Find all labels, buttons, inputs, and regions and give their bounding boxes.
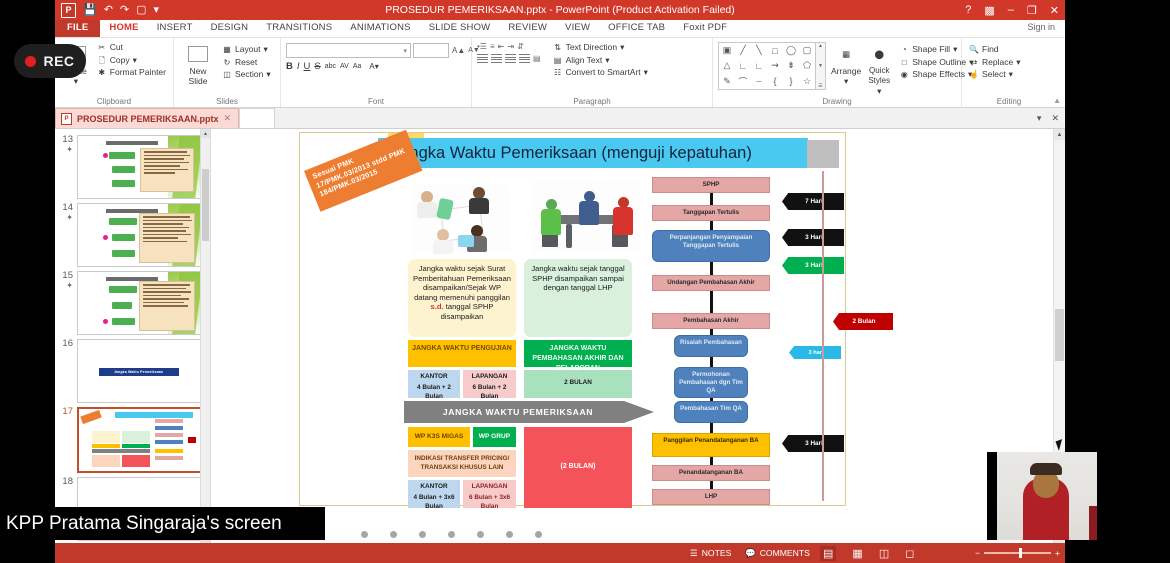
- status-bar: ☰ NOTES 💬 COMMENTS ▤ ▦ ◫ ◻ − +: [55, 543, 1065, 563]
- cell-lapangan-row1: LAPANGAN 6 Bulan + 2 Bulan: [463, 370, 516, 398]
- section-button[interactable]: ◫ Section▾: [220, 69, 273, 80]
- section-icon: ◫: [222, 70, 232, 80]
- format-painter-button[interactable]: ✱ Format Painter: [95, 67, 168, 78]
- convert-to-smartart-button[interactable]: ☷ Convert to SmartArt▾: [551, 67, 650, 78]
- slide-thumbnail-pane[interactable]: 13✦ 14✦: [55, 129, 211, 543]
- comments-button[interactable]: 💬 COMMENTS: [745, 548, 810, 559]
- align-text-button[interactable]: ▤ Align Text▾: [551, 55, 650, 66]
- align-text-icon: ▤: [553, 55, 563, 65]
- gray-placeholder-block: [807, 140, 839, 168]
- text-direction-button[interactable]: ⇅ Text Direction▾: [551, 42, 650, 53]
- regulation-text: Sesuai PMK 17/PMK.03/2013 stdd PMK 184/P…: [304, 130, 418, 201]
- window-title: PROSEDUR PEMERIKSAAN.pptx - PowerPoint (…: [55, 0, 1065, 20]
- document-tab-close-icon[interactable]: ✕: [224, 113, 232, 124]
- reset-button[interactable]: ↻ Reset: [220, 57, 273, 68]
- triangle-shape-icon[interactable]: △: [719, 58, 735, 73]
- thumbnail-preview-selected[interactable]: [77, 407, 208, 473]
- tab-foxit-pdf[interactable]: Foxit PDF: [674, 20, 736, 37]
- binoculars-icon: 🔍: [969, 45, 979, 55]
- thumbnail-scrollbar[interactable]: ▲ ▼: [200, 129, 210, 543]
- right-brace-icon[interactable]: }: [783, 74, 799, 89]
- document-tab-prosedur-pemeriksaan[interactable]: P PROSEDUR PEMERIKSAAN.pptx ✕: [55, 108, 239, 128]
- shapes-gallery-scroll[interactable]: ▲ ▼ ☰: [816, 42, 826, 90]
- character-spacing-button[interactable]: AV: [340, 63, 349, 70]
- bullets-icon[interactable]: •☰: [477, 42, 487, 51]
- replace-button[interactable]: ⇄ Replace▾: [967, 57, 1022, 68]
- tab-review[interactable]: REVIEW: [499, 20, 556, 37]
- view-switcher[interactable]: ▤ ▦ ◫ ◻: [820, 546, 914, 561]
- thumbnail-preview[interactable]: Jangka Waktu Pemeriksaan: [77, 339, 208, 403]
- thumbnail-preview[interactable]: [77, 135, 208, 199]
- ribbon: Paste ▾ ✂ Cut 🗋 Copy ▾: [55, 38, 1065, 108]
- flow-node-permohonan-tim-qa: Permohonan Pembahasan dgn Tim QA: [674, 367, 748, 398]
- ribbon-group-drawing: ▣ ╱ ╲ □ ◯ ▢ △ ∟ ∟ ⇝ ⇟ ⬠ ✎: [713, 38, 962, 107]
- tab-transitions[interactable]: TRANSITIONS: [257, 20, 341, 37]
- animation-star-icon: ✦: [59, 281, 73, 291]
- tab-design[interactable]: DESIGN: [202, 20, 258, 37]
- oval-shape-icon[interactable]: ◯: [783, 43, 799, 58]
- pentagon-shape-icon[interactable]: ⬠: [799, 58, 815, 73]
- select-button[interactable]: ☝ Select▾: [967, 69, 1022, 80]
- thumbnail-preview[interactable]: [77, 203, 208, 267]
- webcam-thumbnail[interactable]: [987, 452, 1105, 540]
- thumbnail-scroll-up-icon[interactable]: ▲: [201, 129, 210, 138]
- thumbnail-scroll-thumb[interactable]: [202, 169, 209, 241]
- badge-3-hari-1: 3 Hari: [782, 229, 844, 246]
- canvas-scroll-up-icon[interactable]: ▲: [1054, 129, 1065, 140]
- elbow-connector-icon[interactable]: ∟: [735, 58, 751, 73]
- arrange-button[interactable]: ▦ Arrange ▾: [831, 42, 861, 86]
- interview-photo: [532, 181, 640, 253]
- arrange-dropdown-icon[interactable]: ▾: [844, 76, 848, 86]
- slide-title: Jangka Waktu Pemeriksaan (menguji kepatu…: [378, 138, 808, 168]
- bold-button[interactable]: B: [286, 61, 293, 72]
- right-arrow-shape-icon[interactable]: ⇝: [767, 58, 783, 73]
- slide-17[interactable]: Jangka Waktu Pemeriksaan (menguji kepatu…: [299, 132, 846, 506]
- arc-shape-icon[interactable]: ⌣: [751, 74, 767, 89]
- tab-office-tab[interactable]: OFFICE TAB: [599, 20, 674, 37]
- font-color-button[interactable]: A▾: [369, 62, 378, 71]
- layout-button[interactable]: ▦ Layout▾: [220, 44, 273, 55]
- regulation-ribbon-tag: Sesuai PMK 17/PMK.03/2013 stdd PMK 184/P…: [304, 130, 422, 212]
- scissors-icon: ✂: [97, 43, 107, 53]
- slide-thumbnail-14[interactable]: 14✦: [55, 199, 210, 267]
- reset-icon: ↻: [222, 57, 232, 67]
- recording-indicator: REC: [14, 44, 86, 78]
- text-direction-icon: ⇅: [553, 43, 563, 53]
- group-label-editing: Editing: [967, 97, 1051, 107]
- cell-lapangan-row2: LAPANGAN 6 Bulan + 3x6 Bulan: [463, 480, 516, 508]
- shapes-scroll-down-icon[interactable]: ▼: [818, 63, 823, 69]
- left-description-box: Jangka waktu sejak Surat Pemberitahuan P…: [408, 259, 516, 337]
- arrange-icon: ▦: [833, 42, 859, 66]
- shape-fill-icon: ◔: [899, 45, 909, 55]
- line-shape-icon[interactable]: ╱: [735, 43, 751, 58]
- document-tab-strip[interactable]: P PROSEDUR PEMERIKSAAN.pptx ✕ ▾ ✕: [55, 108, 1065, 129]
- change-case-button[interactable]: Aa: [353, 63, 362, 70]
- procedure-flowchart: SPHP Tanggapan Tertulis Perpanjangan Pen…: [652, 175, 772, 507]
- curve-shape-icon[interactable]: ⌒: [735, 74, 751, 89]
- layout-icon: ▦: [222, 45, 232, 55]
- tab-close-icon[interactable]: ✕: [1051, 113, 1059, 124]
- shape-outline-icon: □: [899, 57, 909, 67]
- header-jangka-waktu-pembahasan: JANGKA WAKTU PEMBAHASAN AKHIR DAN PELAPO…: [524, 340, 632, 367]
- ribbon-display-options-icon[interactable]: ▩: [984, 4, 994, 17]
- quick-styles-icon: ⬤: [866, 42, 892, 66]
- tab-dropdown-icon[interactable]: ▾: [1037, 113, 1042, 124]
- align-left-icon[interactable]: [477, 54, 488, 63]
- tab-animations[interactable]: ANIMATIONS: [341, 20, 419, 37]
- select-icon: ☝: [969, 70, 979, 80]
- zoom-knob[interactable]: [1019, 548, 1022, 558]
- replace-icon: ⇄: [969, 57, 979, 67]
- group-label-slides: Slides: [179, 97, 275, 107]
- badge-7-hari: 7 Hari: [782, 193, 844, 210]
- notes-icon: ☰: [690, 548, 698, 559]
- tab-home[interactable]: HOME: [100, 20, 147, 37]
- cell-kantor-row2: KANTOR 4 Bulan + 3x6 Bulan: [408, 480, 460, 508]
- increase-font-size-icon[interactable]: A▲: [452, 46, 465, 55]
- numbering-icon[interactable]: ≡: [490, 42, 495, 51]
- down-arrow-shape-icon[interactable]: ⇟: [783, 58, 799, 73]
- tab-insert[interactable]: INSERT: [148, 20, 202, 37]
- close-icon[interactable]: ✕: [1050, 4, 1059, 17]
- notes-button[interactable]: ☰ NOTES: [690, 548, 731, 559]
- left-description-text: Jangka waktu sejak Surat Pemberitahuan P…: [408, 259, 516, 327]
- right-description-box: Jangka waktu sejak tanggal SPHP disampai…: [524, 259, 632, 337]
- columns-icon[interactable]: ▤: [533, 54, 541, 63]
- slide-thumbnail-16[interactable]: 16 Jangka Waktu Pemeriksaan: [55, 335, 210, 403]
- tab-file[interactable]: FILE: [55, 20, 100, 37]
- record-dot-icon: [25, 56, 36, 67]
- comment-bubble-icon: 💬: [745, 548, 756, 559]
- flow-node-lhp: LHP: [652, 489, 770, 505]
- title-bar: P 💾 ↶ ↷ ▢ ▾ PROSEDUR PEMERIKSAAN.pptx - …: [55, 0, 1065, 20]
- smartart-icon: ☷: [553, 68, 563, 78]
- webcam-letterbox-left: [987, 452, 997, 540]
- restore-icon[interactable]: ❐: [1027, 4, 1037, 17]
- justify-icon[interactable]: [519, 54, 530, 63]
- flow-node-perpanjangan: Perpanjangan Penyampaian Tanggapan Tertu…: [652, 230, 770, 262]
- underline-button[interactable]: U: [304, 61, 311, 72]
- slide-thumbnail-13[interactable]: 13✦: [55, 131, 210, 199]
- elbow-arrow-icon[interactable]: ∟: [751, 58, 767, 73]
- line-spacing-icon[interactable]: ⇵: [517, 42, 524, 51]
- flow-node-undangan-pembahasan-akhir: Undangan Pembahasan Akhir: [652, 275, 770, 291]
- thumbnail-title-bar: Jangka Waktu Pemeriksaan: [99, 368, 179, 376]
- screen-share-label-bar: KPP Pratama Singaraja's screen: [0, 507, 325, 540]
- badge-3-hari-2: 3 Hari: [782, 435, 844, 452]
- window-controls[interactable]: ? ▩ – ❐ ✕: [965, 0, 1059, 20]
- copy-dropdown-icon[interactable]: ▾: [133, 55, 137, 66]
- strikethrough-button[interactable]: abc: [325, 63, 336, 70]
- quick-styles-button[interactable]: ⬤ Quick Styles ▾: [866, 42, 892, 96]
- sign-in-link[interactable]: Sign in: [1027, 20, 1065, 37]
- italic-button[interactable]: I: [297, 61, 300, 72]
- increase-indent-icon[interactable]: ⇥: [507, 42, 514, 51]
- flow-node-risalah-pembahasan: Risalah Pembahasan: [674, 335, 748, 357]
- badge-3-hari-cyan: 3 hari: [789, 346, 841, 359]
- zoom-slider[interactable]: − +: [975, 548, 1060, 558]
- shapes-gallery[interactable]: ▣ ╱ ╲ □ ◯ ▢ △ ∟ ∟ ⇝ ⇟ ⬠ ✎: [718, 42, 816, 90]
- rounded-rect-shape-icon[interactable]: ▢: [799, 43, 815, 58]
- flow-node-tanggapan-tertulis: Tanggapan Tertulis: [652, 205, 770, 221]
- zoom-in-icon[interactable]: +: [1055, 548, 1060, 558]
- flow-node-sphp: SPHP: [652, 177, 770, 193]
- slide-sorter-icon[interactable]: ▦: [852, 547, 862, 560]
- webcam-person-headband: [1030, 463, 1062, 475]
- slide-thumbnail-17[interactable]: 17: [55, 403, 210, 473]
- shapes-more-icon[interactable]: ☰: [818, 83, 822, 89]
- new-slide-icon: [185, 42, 211, 66]
- minimize-icon[interactable]: –: [1008, 4, 1014, 16]
- arrow-shape-icon[interactable]: ╲: [751, 43, 767, 58]
- tag-wp-k3s-migas: WP K3S MIGAS: [408, 427, 470, 447]
- align-center-icon[interactable]: [491, 54, 502, 63]
- help-icon[interactable]: ?: [965, 4, 971, 16]
- align-right-icon[interactable]: [505, 54, 516, 63]
- left-brace-icon[interactable]: {: [767, 74, 783, 89]
- flow-node-panggilan-ba: Panggilan Penandatanganan BA: [652, 433, 770, 457]
- document-tab-label: PROSEDUR PEMERIKSAAN.pptx: [77, 114, 219, 124]
- group-label-font: Font: [286, 97, 466, 107]
- rectangle-shape-icon[interactable]: □: [767, 43, 783, 58]
- font-name-input[interactable]: ▾: [286, 43, 411, 58]
- screen-share-label: KPP Pratama Singaraja's screen: [0, 513, 282, 535]
- badge-3-hari-green: 3 Hari: [782, 257, 844, 274]
- ribbon-tab-bar[interactable]: FILE HOME INSERT DESIGN TRANSITIONS ANIM…: [55, 20, 1065, 38]
- ribbon-group-font: ▾ A▲ A▼ B I U S abc AV Aa A▾: [281, 38, 472, 107]
- slide-anchor-dots: [361, 531, 542, 538]
- flow-node-penandatanganan-ba: Penandatanganan BA: [652, 465, 770, 481]
- textbox-shape-icon[interactable]: ▣: [719, 43, 735, 58]
- meeting-photo: [412, 185, 510, 253]
- new-document-tab-button[interactable]: [239, 108, 275, 128]
- slide-thumbnail-15[interactable]: 15✦: [55, 267, 210, 335]
- normal-view-icon[interactable]: ▤: [820, 546, 836, 561]
- font-size-input[interactable]: [413, 43, 449, 58]
- paste-dropdown-icon[interactable]: ▾: [74, 76, 78, 86]
- ribbon-group-paragraph: •☰ ≡ ⇤ ⇥ ⇵ ▤: [472, 38, 713, 107]
- freeform-shape-icon[interactable]: ✎: [719, 74, 735, 89]
- ribbon-group-slides: New Slide ▦ Layout▾ ↻ Reset ◫: [174, 38, 281, 107]
- find-button[interactable]: 🔍 Find: [967, 44, 1022, 55]
- badge-2-bulan: 2 Bulan: [833, 313, 893, 330]
- flow-node-pembahasan-tim-qa: Pembahasan Tim QA: [674, 401, 748, 423]
- zoom-track[interactable]: [984, 552, 1051, 554]
- animation-star-icon: ✦: [59, 145, 73, 155]
- ribbon-group-editing: 🔍 Find ⇄ Replace▾ ☝ Select▾ Editing: [962, 38, 1056, 107]
- copy-icon: 🗋: [97, 55, 107, 65]
- decrease-indent-icon[interactable]: ⇤: [498, 42, 505, 51]
- powerpoint-window: P 💾 ↶ ↷ ▢ ▾ PROSEDUR PEMERIKSAAN.pptx - …: [55, 0, 1065, 540]
- document-tab-right-controls[interactable]: ▾ ✕: [1037, 113, 1065, 124]
- webcam-letterbox-right: [1097, 452, 1105, 540]
- thumbnail-preview[interactable]: [77, 271, 208, 335]
- timeline-arrow: JANGKA WAKTU PEMERIKSAAN: [404, 401, 654, 423]
- group-label-paragraph: Paragraph: [477, 97, 707, 107]
- slideshow-icon[interactable]: ◻: [905, 547, 914, 560]
- new-slide-button[interactable]: New Slide: [179, 42, 217, 86]
- recording-label: REC: [43, 53, 74, 69]
- group-label-drawing: Drawing: [718, 97, 956, 107]
- slide-canvas[interactable]: Jangka Waktu Pemeriksaan (menguji kepatu…: [211, 129, 1065, 543]
- star-shape-icon[interactable]: ☆: [799, 74, 815, 89]
- work-area: 13✦ 14✦: [55, 129, 1065, 543]
- tag-transfer-pricing: INDIKASI TRANSFER PRICING/ TRANSAKSI KHU…: [408, 450, 516, 477]
- collapse-ribbon-icon[interactable]: ▲: [1053, 96, 1061, 105]
- cut-button[interactable]: ✂ Cut: [95, 42, 168, 53]
- flow-node-pembahasan-akhir: Pembahasan Akhir: [652, 313, 770, 329]
- copy-button[interactable]: 🗋 Copy ▾: [95, 55, 168, 66]
- paintbrush-icon: ✱: [97, 68, 107, 78]
- tab-view[interactable]: VIEW: [556, 20, 599, 37]
- quick-styles-dropdown-icon[interactable]: ▾: [877, 86, 881, 96]
- group-label-clipboard: Clipboard: [60, 97, 168, 107]
- shape-effects-icon: ◉: [899, 70, 909, 80]
- align-row[interactable]: ▤: [477, 54, 541, 63]
- vertical-bracket-line: [822, 171, 824, 501]
- cell-kantor-row1: KANTOR 4 Bulan + 2 Bulan: [408, 370, 460, 398]
- reading-view-icon[interactable]: ◫: [879, 547, 889, 560]
- cell-duration-row1: 2 BULAN: [524, 370, 632, 398]
- right-description-text: Jangka waktu sejak tanggal SPHP disampai…: [524, 259, 632, 298]
- cell-duration-row2: (2 BULAN): [524, 427, 632, 508]
- pptx-file-icon: P: [61, 113, 72, 125]
- tab-slide-show[interactable]: SLIDE SHOW: [420, 20, 500, 37]
- tag-wp-grup: WP GRUP: [473, 427, 516, 447]
- screen-share-frame: P 💾 ↶ ↷ ▢ ▾ PROSEDUR PEMERIKSAAN.pptx - …: [0, 0, 1170, 540]
- shadow-button[interactable]: S: [314, 61, 320, 72]
- slide-title-banner: Jangka Waktu Pemeriksaan (menguji kepatu…: [378, 138, 808, 168]
- header-jangka-waktu-pengujian: JANGKA WAKTU PENGUJIAN: [408, 340, 516, 367]
- zoom-out-icon[interactable]: −: [975, 548, 980, 558]
- canvas-scroll-thumb[interactable]: [1055, 309, 1064, 361]
- shapes-scroll-up-icon[interactable]: ▲: [818, 43, 823, 49]
- animation-star-icon: ✦: [59, 213, 73, 223]
- bullets-row[interactable]: •☰ ≡ ⇤ ⇥ ⇵: [477, 42, 541, 51]
